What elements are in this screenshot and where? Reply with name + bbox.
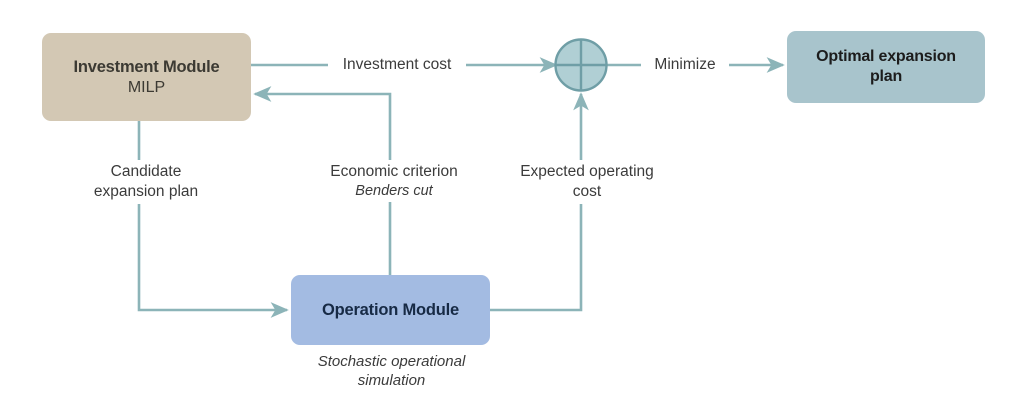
optimal-plan-title: Optimal expansion plan — [787, 47, 985, 86]
investment-module-subtitle: MILP — [128, 78, 165, 98]
node-optimal-expansion-plan[interactable]: Optimal expansion plan — [787, 31, 985, 103]
edge-label-expected-operating-cost: Expected operating cost — [512, 160, 662, 204]
edge-label-minimize: Minimize — [641, 54, 729, 76]
node-investment-module[interactable]: Investment Module MILP — [42, 33, 251, 121]
economic-criterion-sub: Benders cut — [318, 182, 470, 201]
node-operation-module[interactable]: Operation Module — [291, 275, 490, 345]
investment-module-title: Investment Module — [73, 57, 219, 77]
summation-junction-icon — [556, 40, 607, 91]
economic-criterion-main: Economic criterion — [330, 163, 458, 180]
operation-module-caption: Stochastic operational simulation — [300, 352, 483, 390]
diagram-canvas: Investment Module MILP Optimal expansion… — [0, 0, 1024, 417]
edge-label-economic-criterion: Economic criterion Benders cut — [313, 160, 475, 202]
edge-label-investment-cost: Investment cost — [328, 54, 466, 76]
operation-module-title: Operation Module — [322, 300, 459, 320]
edge-label-candidate-expansion-plan: Candidate expansion plan — [76, 160, 216, 204]
edge-candidate-plan-line — [139, 121, 287, 310]
